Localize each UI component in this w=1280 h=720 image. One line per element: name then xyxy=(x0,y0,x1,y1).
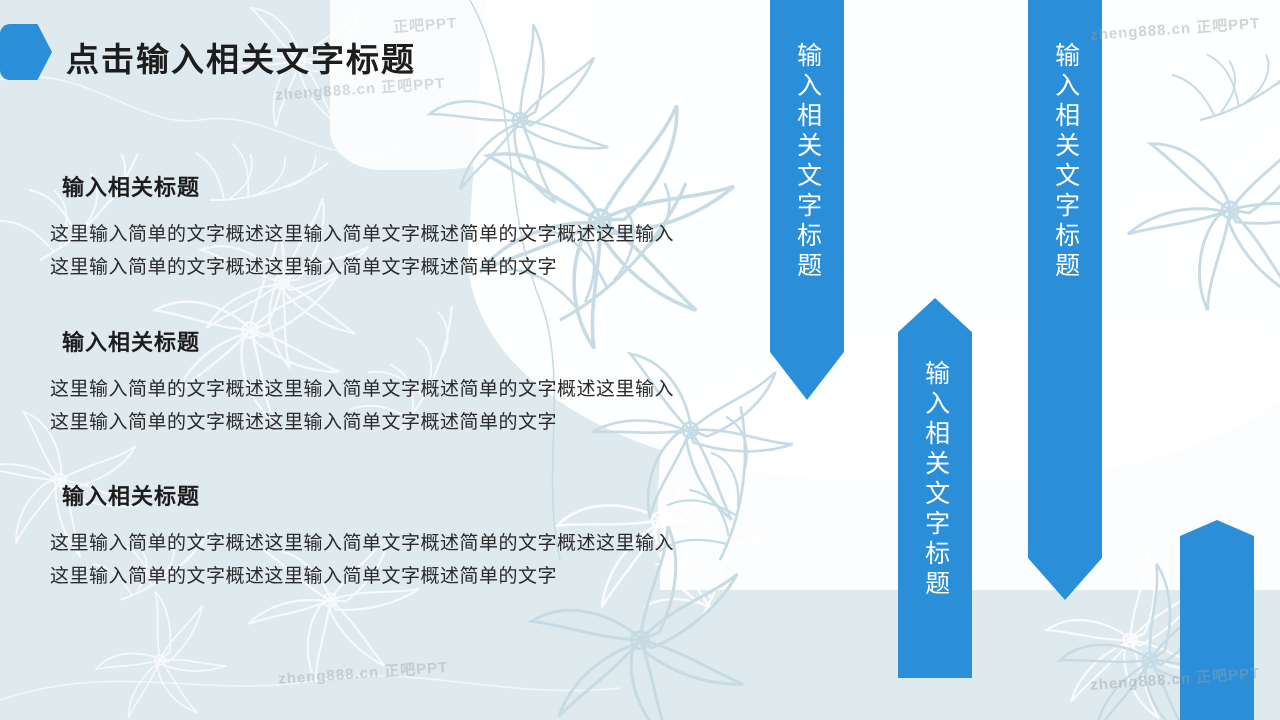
content-block-body: 这里输入简单的文字概述这里输入简单文字概述简单的文字概述这里输入这里输入简单的文… xyxy=(50,373,690,440)
content-block-body: 这里输入简单的文字概述这里输入简单文字概述简单的文字概述这里输入这里输入简单的文… xyxy=(50,218,690,285)
arrow-banner-3: 输入相关文字标题 xyxy=(1028,0,1102,600)
content-block: 输入相关标题 这里输入简单的文字概述这里输入简单文字概述简单的文字概述这里输入这… xyxy=(50,170,690,285)
arrow-banner-label: 输入相关文字标题 xyxy=(791,42,822,282)
watermark: zheng888.cn 正吧PPT xyxy=(1089,12,1260,45)
arrow-banner-2: 输入相关文字标题 xyxy=(898,298,972,678)
watermark: zheng888.cn 正吧PPT xyxy=(277,656,448,689)
content-block: 输入相关标题 这里输入简单的文字概述这里输入简单文字概述简单的文字概述这里输入这… xyxy=(50,325,690,440)
content-block-heading: 输入相关标题 xyxy=(62,479,690,511)
content-column: 输入相关标题 这里输入简单的文字概述这里输入简单文字概述简单的文字概述这里输入这… xyxy=(50,170,690,634)
white-shape-top xyxy=(330,0,590,170)
slide-canvas: 点击输入相关文字标题 输入相关标题 这里输入简单的文字概述这里输入简单文字概述简… xyxy=(0,0,1280,720)
arrow-banner-label: 输入相关文字标题 xyxy=(919,360,950,600)
arrow-banner-1: 输入相关文字标题 xyxy=(770,0,844,400)
arrow-banner-label: 输入相关文字标题 xyxy=(1049,42,1080,282)
content-block-heading: 输入相关标题 xyxy=(62,325,690,357)
content-block: 输入相关标题 这里输入简单的文字概述这里输入简单文字概述简单的文字概述这里输入这… xyxy=(50,479,690,594)
arrow-banner-4 xyxy=(1180,520,1254,720)
content-block-heading: 输入相关标题 xyxy=(62,170,690,202)
title-accent-marker xyxy=(0,24,52,80)
content-block-body: 这里输入简单的文字概述这里输入简单文字概述简单的文字概述这里输入这里输入简单的文… xyxy=(50,527,690,594)
page-title: 点击输入相关文字标题 xyxy=(66,33,416,81)
